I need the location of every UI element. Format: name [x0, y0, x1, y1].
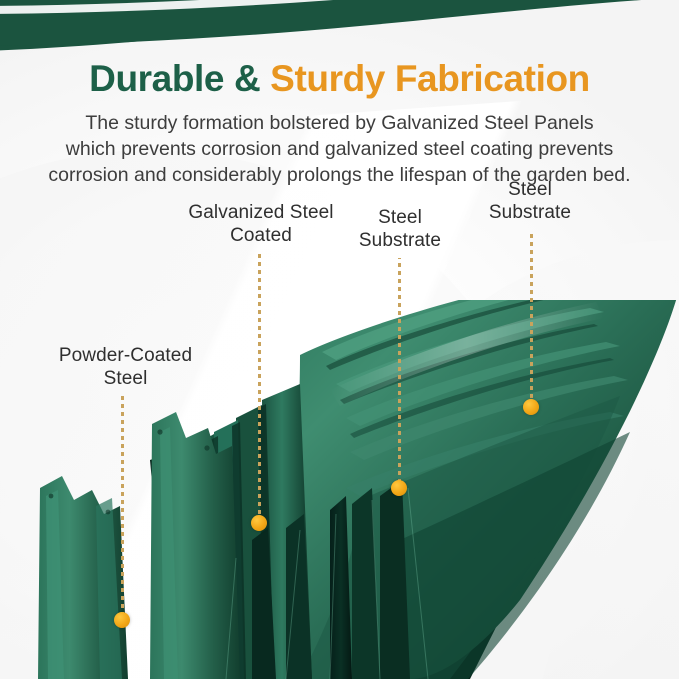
body-line-2: which prevents corrosion and galvanized … [16, 136, 663, 162]
callout-line-2: Steel [18, 367, 233, 390]
callout-label-powder-coated-steel: Powder-Coated Steel [18, 344, 233, 390]
panel-screw-hole [106, 510, 111, 515]
leader-line-steel-substrate-right [530, 230, 533, 406]
panel-screw-hole [157, 429, 162, 434]
callout-line-2: Substrate [450, 201, 610, 224]
leader-line-galvanized-steel-coated [258, 252, 261, 520]
banner-shape [0, 0, 679, 62]
marker-dot-powder-coated-steel [114, 612, 130, 628]
title-part-green: Durable & [89, 58, 270, 99]
callout-label-steel-substrate-right: Steel Substrate [450, 178, 610, 224]
callout-line-1: Steel [450, 178, 610, 201]
panel-screw-hole [204, 445, 209, 450]
callout-line-2: Substrate [320, 229, 480, 252]
marker-dot-steel-substrate-mid [391, 480, 407, 496]
body-paragraph: The sturdy formation bolstered by Galvan… [16, 110, 663, 188]
leader-line-steel-substrate-mid [398, 258, 401, 484]
title-part-orange: Sturdy Fabrication [270, 58, 590, 99]
callout-line-1: Powder-Coated [18, 344, 233, 367]
top-banner [0, 0, 679, 62]
marker-dot-steel-substrate-right [523, 399, 539, 415]
page-title: Durable & Sturdy Fabrication [0, 57, 679, 101]
infographic-canvas: Durable & Sturdy Fabrication The sturdy … [0, 0, 679, 679]
body-line-1: The sturdy formation bolstered by Galvan… [16, 110, 663, 136]
panel-screw-hole [49, 494, 54, 499]
marker-dot-galvanized-steel-coated [251, 515, 267, 531]
leader-line-powder-coated-steel [121, 392, 124, 616]
